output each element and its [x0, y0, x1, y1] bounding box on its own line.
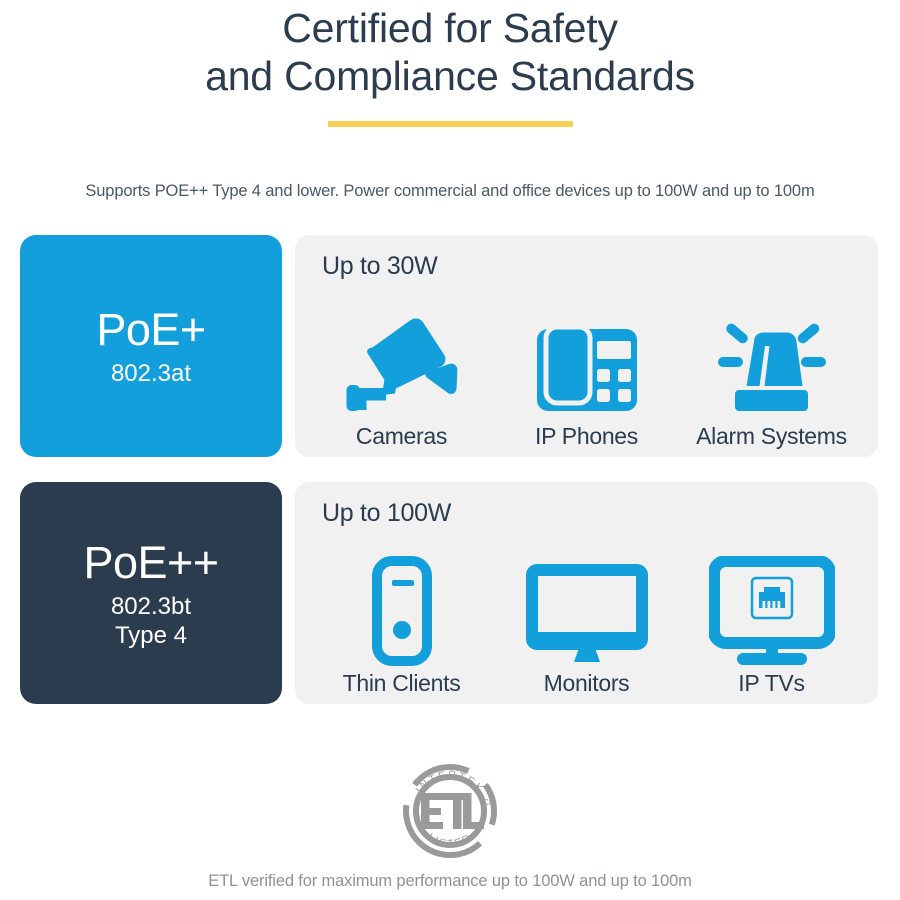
etl-footnote: ETL verified for maximum performance up … [0, 872, 900, 891]
device-item-thin-clients: Thin Clients [312, 553, 492, 697]
poe-plusplus-device-panel: Up to 100W Thin Clients [295, 482, 878, 704]
device-label-thin-clients: Thin Clients [343, 670, 461, 697]
etl-listed-intertek-logo: CM INTERTEK LISTED [0, 755, 900, 863]
device-label-ip-phones: IP Phones [535, 423, 638, 450]
monitor-icon [522, 553, 652, 668]
page-header: Certified for Safety and Compliance Stan… [0, 0, 900, 127]
title-accent-rule [328, 121, 573, 127]
device-label-monitors: Monitors [544, 670, 630, 697]
device-label-alarm-systems: Alarm Systems [696, 423, 847, 450]
poe-plus-device-panel: Up to 30W [295, 235, 878, 457]
poe-plusplus-badge-title: PoE++ [83, 537, 218, 589]
poe-plusplus-badge-type: Type 4 [115, 621, 187, 650]
device-item-ip-tvs: IP TVs [682, 553, 862, 697]
thin-client-icon [372, 553, 432, 668]
device-item-alarm-systems: Alarm Systems [682, 306, 862, 450]
poe-plus-device-list: Cameras [309, 280, 864, 450]
poe-plus-power-rating: Up to 30W [322, 252, 437, 281]
poe-plusplus-power-rating: Up to 100W [322, 499, 451, 528]
poe-plus-row: PoE+ 802.3at Up to 30W [0, 235, 900, 457]
device-item-monitors: Monitors [497, 553, 677, 697]
device-label-ip-tvs: IP TVs [738, 670, 804, 697]
page-title-line-2: and Compliance Standards [0, 52, 900, 100]
page-title-line-1: Certified for Safety [0, 0, 900, 52]
svg-text:CM: CM [483, 798, 496, 807]
poe-plusplus-row: PoE++ 802.3bt Type 4 Up to 100W Thin Cli… [0, 482, 900, 704]
device-item-ip-phones: IP Phones [497, 306, 677, 450]
security-camera-icon [344, 306, 460, 421]
svg-text:LISTED: LISTED [425, 831, 474, 850]
poe-plusplus-badge-standard: 802.3bt [111, 592, 191, 621]
ip-phone-icon [535, 306, 639, 421]
poe-plusplus-badge: PoE++ 802.3bt Type 4 [20, 482, 282, 704]
device-label-cameras: Cameras [356, 423, 447, 450]
alarm-siren-icon [706, 306, 838, 421]
poe-plusplus-device-list: Thin Clients Monitors [309, 527, 864, 697]
poe-plus-badge: PoE+ 802.3at [20, 235, 282, 457]
ip-tv-icon [709, 553, 835, 668]
subcaption-text: Supports POE++ Type 4 and lower. Power c… [0, 182, 900, 201]
device-item-cameras: Cameras [312, 306, 492, 450]
poe-plus-badge-standard: 802.3at [111, 359, 191, 388]
poe-plus-badge-title: PoE+ [96, 304, 205, 356]
